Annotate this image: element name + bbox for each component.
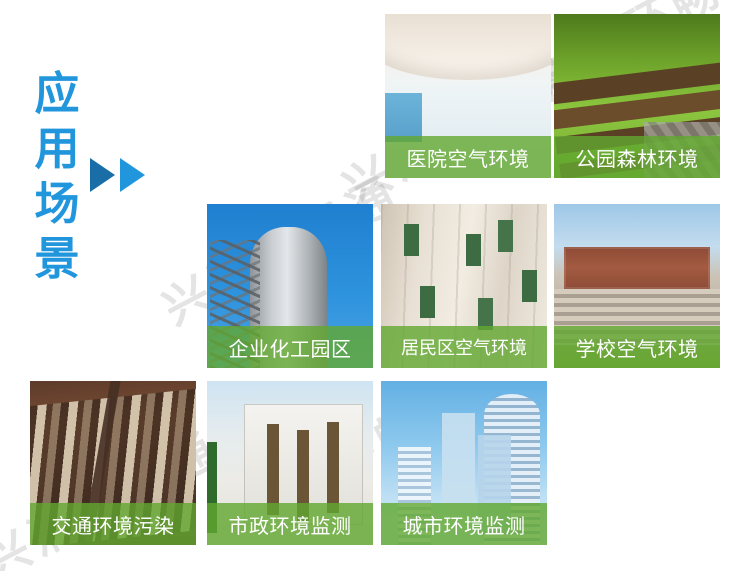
page-title-char-3: 场 xyxy=(22,176,92,231)
scenario-card-residential-air-environment[interactable]: 居民区空气环境 xyxy=(381,204,547,368)
scenario-card-municipal-environment-monitoring[interactable]: 市政环境监测 xyxy=(207,381,373,545)
scenario-label: 居民区空气环境 xyxy=(401,334,527,360)
scenario-label: 城市环境监测 xyxy=(403,510,526,539)
triangle-right-icon xyxy=(120,158,145,192)
page-title: 应 用 场 景 xyxy=(22,66,92,286)
scenario-label: 学校空气环境 xyxy=(576,333,699,362)
scenario-card-enterprise-chemical-park[interactable]: 企业化工园区 xyxy=(207,204,373,368)
scenario-label: 市政环境监测 xyxy=(229,510,352,539)
scenario-label-bar: 市政环境监测 xyxy=(207,503,373,545)
scenario-label: 交通环境污染 xyxy=(52,510,175,539)
scenario-label: 医院空气环境 xyxy=(407,143,530,172)
scenario-label-bar: 企业化工园区 xyxy=(207,326,373,368)
page-title-char-2: 用 xyxy=(22,121,92,176)
scenario-card-traffic-environment-pollution[interactable]: 交通环境污染 xyxy=(30,381,196,545)
page-title-char-4: 景 xyxy=(22,231,92,286)
scenario-card-urban-environment-monitoring[interactable]: 城市环境监测 xyxy=(381,381,547,545)
scenario-label-bar: 居民区空气环境 xyxy=(381,326,547,368)
scenario-card-school-air-environment[interactable]: 学校空气环境 xyxy=(554,204,720,368)
scenario-label: 公园森林环境 xyxy=(576,143,699,172)
scenario-label-bar: 学校空气环境 xyxy=(554,326,720,368)
triangle-right-icon xyxy=(90,158,115,192)
scenario-label-bar: 医院空气环境 xyxy=(385,136,551,178)
scenario-label-bar: 公园森林环境 xyxy=(554,136,720,178)
page-title-char-1: 应 xyxy=(22,66,92,121)
scenario-label-bar: 城市环境监测 xyxy=(381,503,547,545)
scenario-label: 企业化工园区 xyxy=(229,333,352,362)
scenario-card-hospital-air-environment[interactable]: 医院空气环境 xyxy=(385,14,551,178)
arrow-indicator xyxy=(90,158,145,192)
scenario-card-park-forest-environment[interactable]: 公园森林环境 xyxy=(554,14,720,178)
scenario-label-bar: 交通环境污染 xyxy=(30,503,196,545)
